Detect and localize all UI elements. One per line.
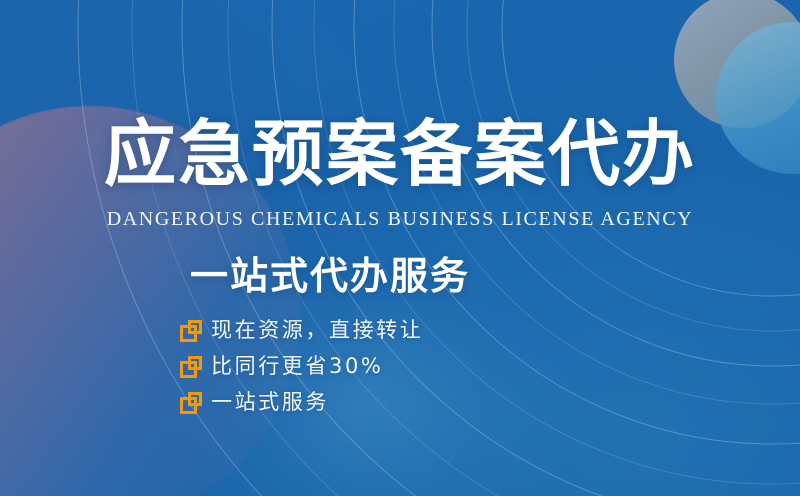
feature-list: 现在资源，直接转让 比同行更省30% 一站式服务 [180, 318, 423, 416]
feature-label: 一站式服务 [211, 390, 329, 415]
list-item: 比同行更省30% [180, 354, 423, 379]
banner-content: 应急预案备案代办 DANGEROUS CHEMICALS BUSINESS LI… [0, 0, 800, 496]
overlapping-squares-icon [180, 320, 202, 342]
list-item: 一站式服务 [180, 390, 423, 415]
page-title: 应急预案备案代办 [0, 118, 800, 190]
promo-banner: 应急预案备案代办 DANGEROUS CHEMICALS BUSINESS LI… [0, 0, 800, 496]
overlapping-squares-icon [180, 356, 202, 378]
page-subtitle-english: DANGEROUS CHEMICALS BUSINESS LICENSE AGE… [0, 208, 800, 231]
feature-label: 比同行更省30% [211, 354, 383, 379]
list-item: 现在资源，直接转让 [180, 318, 423, 343]
feature-label: 现在资源，直接转让 [211, 318, 423, 343]
page-subtitle-chinese: 一站式代办服务 [0, 245, 800, 300]
overlapping-squares-icon [180, 392, 202, 414]
